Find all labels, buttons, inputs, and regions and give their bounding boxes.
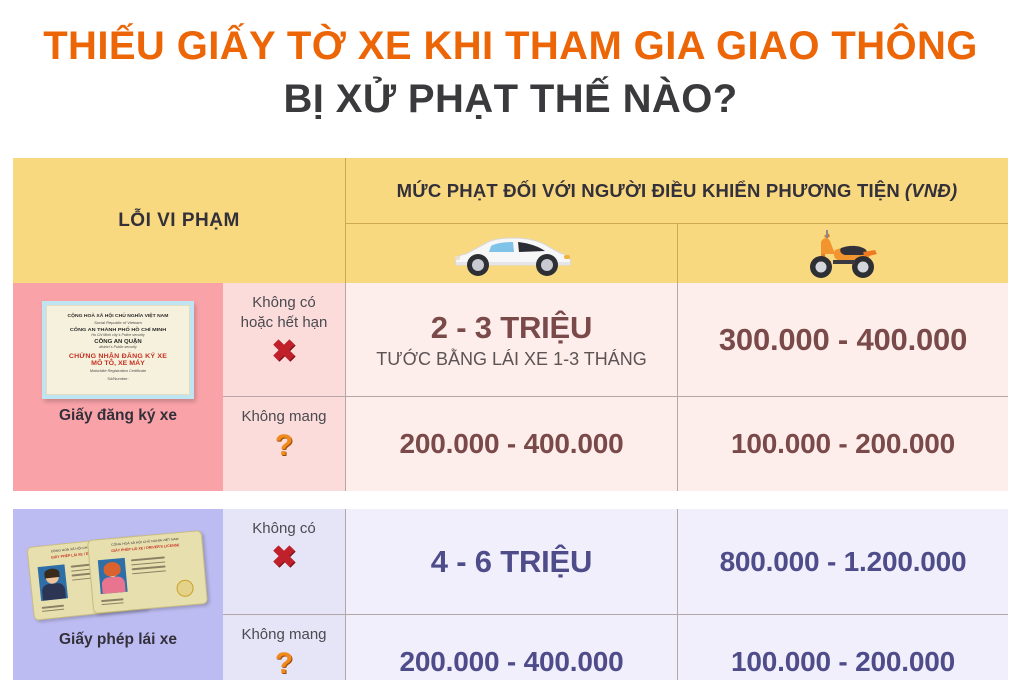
cert-line-8: MÔ TÔ, XE MÁY [91,360,145,366]
cert-line-4: Ho Chi Minh city`s Police security [91,333,144,337]
amount-value: 800.000 - 1.200.000 [720,546,967,578]
amount-value: 100.000 - 200.000 [731,646,955,678]
red-x-icon: ✖ [271,541,296,575]
amount-value: 2 - 3 TRIỆU [431,310,592,346]
table-subrow: Không cóhoặc hết hạn ✖ 2 - 3 TRIỆU TƯỚC … [223,283,1008,396]
amount-cell-car: 2 - 3 TRIỆU TƯỚC BẰNG LÁI XE 1-3 THÁNG [346,283,678,396]
row-1-amounts: Không cóhoặc hết hạn ✖ 2 - 3 TRIỆU TƯỚC … [223,283,1008,491]
amount-value: 4 - 6 TRIỆU [431,544,592,580]
cert-line-7: CHỨNG NHẬN ĐĂNG KÝ XE [69,353,167,359]
condition-cell: Không mang ? [223,615,346,680]
condition-cell: Không mang ? [223,397,346,491]
license-card-back: CỘNG HOÀ XÃ HỘI CHỦ NGHĨA VIỆT NAM GIẤY … [87,530,208,614]
document-label: Giấy đăng ký xe [59,407,177,425]
cert-line-2: Social Republic of Vietnam [94,320,142,325]
table-header: LỖI VI PHẠM MỨC PHẠT ĐỐI VỚI NGƯỜI ĐIỀU … [13,158,1008,283]
header-motorcycle-cell [678,224,1008,283]
condition-label: Không mang [241,407,326,427]
amount-cell-car: 200.000 - 400.000 [346,397,678,491]
amount-cell-motorcycle: 100.000 - 200.000 [678,397,1008,491]
infographic-page: THIẾU GIẤY TỜ XE KHI THAM GIA GIAO THÔNG… [0,0,1021,680]
table-row: CỘNG HOÀ XÃ HỘI CHỦ NGHĨA VIỆT NAM Socia… [13,283,1008,491]
cert-footer [53,387,54,394]
table-subrow: Không có ✖ 4 - 6 TRIỆU 800.000 - 1.200.0… [223,509,1008,614]
document-cell-license: CỘNG HOÀ XÃ HỘI CHỦ NGHĨA VIỆT NAM GIẤY … [13,509,223,680]
header-violation-column: LỖI VI PHẠM [13,158,346,283]
orange-question-icon: ? [275,429,293,463]
header-penalty-text: MỨC PHẠT ĐỐI VỚI NGƯỜI ĐIỀU KHIỂN PHƯƠNG… [397,180,900,202]
orange-question-icon: ? [275,647,293,680]
red-x-icon: ✖ [271,335,296,369]
amount-value: 200.000 - 400.000 [400,428,624,460]
document-cell-registration: CỘNG HOÀ XÃ HỘI CHỦ NGHĨA VIỆT NAM Socia… [13,283,223,491]
amount-value: 100.000 - 200.000 [731,428,955,460]
motorcycle-icon [797,226,889,282]
cert-line-10: Số/Number: [107,376,128,381]
car-icon [448,229,576,279]
vehicle-registration-certificate-icon: CỘNG HOÀ XÃ HỘI CHỦ NGHĨA VIỆT NAM Socia… [42,301,194,399]
amount-note: TƯỚC BẰNG LÁI XE 1-3 THÁNG [376,349,647,370]
amount-cell-car: 200.000 - 400.000 [346,615,678,680]
header-vehicle-row [346,224,1008,283]
header-car-cell [346,224,678,283]
drivers-license-cards-icon: CỘNG HOÀ XÃ HỘI CHỦ NGHĨA VIỆT NAM GIẤY … [28,527,208,623]
title-line-2: BỊ XỬ PHẠT THẾ NÀO? [0,75,1021,123]
title-line-1: THIẾU GIẤY TỜ XE KHI THAM GIA GIAO THÔNG [0,22,1021,70]
amount-cell-car: 4 - 6 TRIỆU [346,509,678,614]
amount-cell-motorcycle: 100.000 - 200.000 [678,615,1008,680]
table-row: CỘNG HOÀ XÃ HỘI CHỦ NGHĨA VIỆT NAM GIẤY … [13,509,1008,680]
cert-line-9: Motorbike Registration Certificate [90,369,146,373]
amount-value: 200.000 - 400.000 [400,646,624,678]
condition-label: Không có [252,519,315,539]
condition-cell: Không có ✖ [223,509,346,614]
penalty-table: LỖI VI PHẠM MỨC PHẠT ĐỐI VỚI NGƯỜI ĐIỀU … [13,158,1008,680]
table-subrow: Không mang ? 200.000 - 400.000 100.000 -… [223,397,1008,491]
condition-label: Không cóhoặc hết hạn [241,293,328,333]
cert-line-3: CÔNG AN THÀNH PHỐ HỒ CHÍ MINH [70,327,166,332]
amount-value: 300.000 - 400.000 [719,322,967,358]
document-label: Giấy phép lái xe [59,631,177,649]
condition-cell: Không cóhoặc hết hạn ✖ [223,283,346,396]
header-penalty-group: MỨC PHẠT ĐỐI VỚI NGƯỜI ĐIỀU KHIỂN PHƯƠNG… [346,158,1008,283]
page-title: THIẾU GIẤY TỜ XE KHI THAM GIA GIAO THÔNG… [0,0,1021,123]
header-penalty-unit: (VNĐ) [905,180,957,202]
header-penalty-title: MỨC PHẠT ĐỐI VỚI NGƯỜI ĐIỀU KHIỂN PHƯƠNG… [346,158,1008,224]
cert-line-6: district`s Public security [99,345,137,349]
amount-cell-motorcycle: 300.000 - 400.000 [678,283,1008,396]
table-subrow: Không mang ? 200.000 - 400.000 100.000 -… [223,615,1008,680]
cert-line-5: CÔNG AN QUẬN [94,339,141,344]
condition-label: Không mang [241,625,326,645]
cert-line-1: CỘNG HOÀ XÃ HỘI CHỦ NGHĨA VIỆT NAM [68,313,169,318]
amount-cell-motorcycle: 800.000 - 1.200.000 [678,509,1008,614]
row-2-amounts: Không có ✖ 4 - 6 TRIỆU 800.000 - 1.200.0… [223,509,1008,680]
